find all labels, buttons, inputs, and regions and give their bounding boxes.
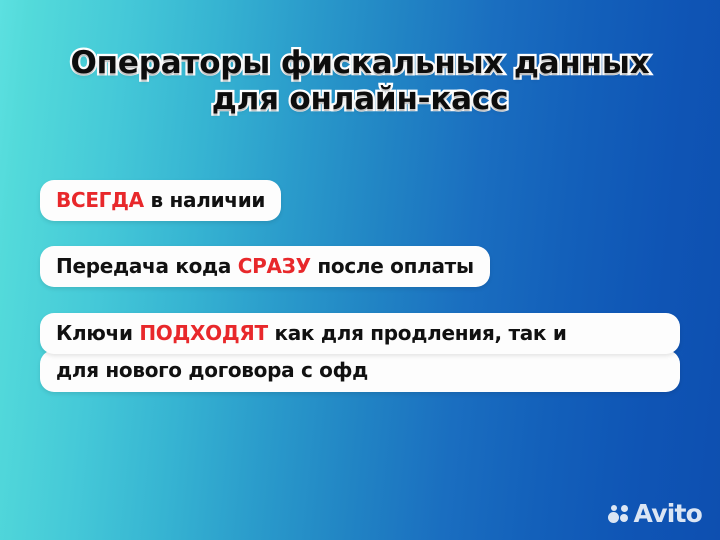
bullet-list: ВСЕГДА в наличии Передача кода СРАЗУ пос… [40, 180, 680, 259]
plain-text: в наличии [144, 188, 265, 212]
bullet-pill: для нового договора с офд [40, 350, 680, 391]
highlight-word: СРАЗУ [238, 254, 311, 278]
poster-canvas: Операторы фискальных данных для онлайн-к… [0, 0, 720, 540]
avito-watermark: Avito [608, 501, 702, 526]
bullet-text: для нового договора с офд [56, 358, 368, 382]
highlight-word: ПОДХОДЯТ [139, 321, 267, 345]
bullet-text: ВСЕГДА в наличии [56, 188, 265, 212]
plain-text: Передача кода [56, 254, 238, 278]
plain-text: для нового договора с офд [56, 358, 368, 382]
bullet-pill: Передача кода СРАЗУ после оплаты [40, 246, 490, 287]
plain-text: Ключи [56, 321, 139, 345]
title-line-1: Операторы фискальных данных [0, 46, 720, 82]
bullet-pill: ВСЕГДА в наличии [40, 180, 281, 221]
bullet-item-instant-delivery: Передача кода СРАЗУ после оплаты [40, 246, 490, 287]
highlight-word: ВСЕГДА [56, 188, 144, 212]
bullet-item-availability: ВСЕГДА в наличии [40, 180, 281, 221]
page-title: Операторы фискальных данных для онлайн-к… [0, 46, 720, 118]
bullet-item-keys-compatible: Ключи ПОДХОДЯТ как для продления, так и … [40, 313, 680, 392]
avito-wordmark: Avito [634, 501, 702, 526]
title-line-2: для онлайн-касс [0, 82, 720, 118]
bullet-text: Ключи ПОДХОДЯТ как для продления, так и [56, 321, 567, 345]
avito-logo-icon [608, 504, 630, 524]
plain-text: после оплаты [311, 254, 474, 278]
plain-text: как для продления, так и [268, 321, 567, 345]
bullet-pill: Ключи ПОДХОДЯТ как для продления, так и [40, 313, 680, 354]
bullet-text: Передача кода СРАЗУ после оплаты [56, 254, 474, 278]
